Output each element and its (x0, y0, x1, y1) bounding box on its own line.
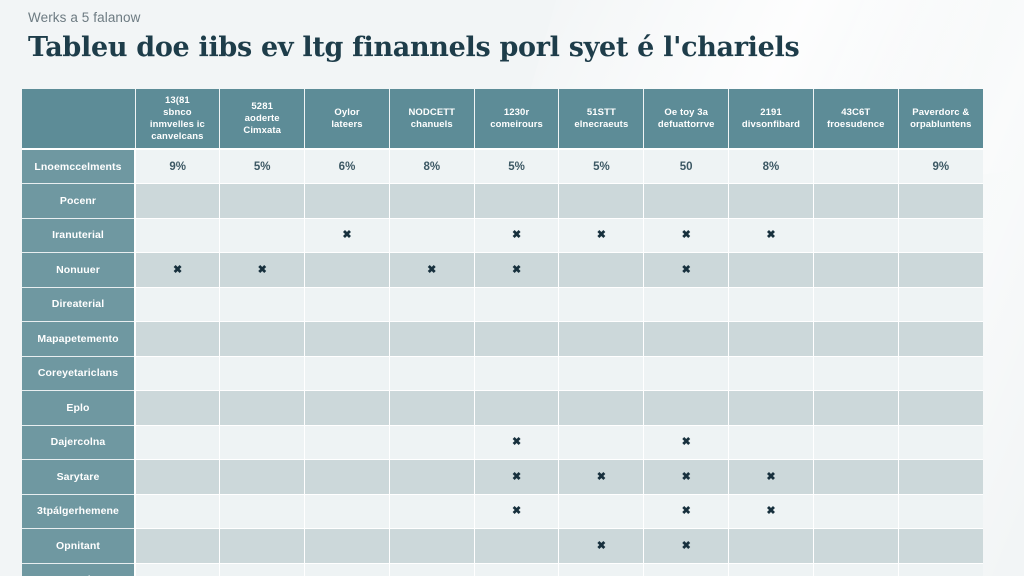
matrix-cell[interactable] (729, 356, 814, 391)
percent-value: 8% (763, 161, 780, 173)
check-mark-icon: ✖ (597, 472, 606, 483)
column-header-line: NODCETT (394, 107, 470, 119)
row-label-9[interactable]: Dajercolna (22, 425, 135, 460)
matrix-cell[interactable]: ✖ (729, 460, 814, 495)
matrix-cell[interactable]: ✖ (729, 494, 814, 529)
matrix-cell[interactable] (898, 184, 983, 219)
percent-value: 8% (423, 161, 440, 173)
matrix-cell[interactable] (898, 529, 983, 564)
matrix-cell[interactable] (305, 287, 390, 322)
matrix-cell[interactable] (729, 287, 814, 322)
matrix-cell[interactable] (389, 460, 474, 495)
matrix-cell[interactable] (813, 322, 898, 357)
matrix-cell[interactable]: 50 (644, 149, 729, 184)
matrix-cell[interactable]: ✖ (135, 253, 220, 288)
table-row: Direaterial (22, 287, 983, 322)
matrix-cell[interactable] (813, 184, 898, 219)
check-mark-icon: ✖ (597, 541, 606, 552)
matrix-cell[interactable] (729, 322, 814, 357)
row-label-11[interactable]: 3tpálgerhemene (22, 494, 135, 529)
matrix-cell[interactable] (898, 460, 983, 495)
matrix-cell[interactable] (644, 563, 729, 576)
matrix-cell[interactable] (220, 494, 305, 529)
matrix-cell[interactable] (474, 391, 559, 426)
percent-value: 9% (933, 161, 950, 173)
page-title: Tableu doe iibs ev ltg finannels porl sy… (28, 28, 988, 68)
matrix-cell[interactable] (474, 322, 559, 357)
check-mark-icon: ✖ (512, 437, 521, 448)
matrix-cell[interactable] (898, 253, 983, 288)
matrix-cell[interactable]: ✖ (389, 253, 474, 288)
check-mark-icon: ✖ (427, 265, 436, 276)
matrix-cell[interactable] (135, 356, 220, 391)
matrix-cell[interactable] (305, 529, 390, 564)
matrix-cell[interactable] (813, 356, 898, 391)
row-label-7[interactable]: Coreyetariclans (22, 356, 135, 391)
matrix-cell[interactable] (389, 287, 474, 322)
column-header-line: Oylor (309, 107, 385, 119)
matrix-cell[interactable]: ✖ (644, 425, 729, 460)
matrix-cell[interactable]: ✖ (559, 218, 644, 253)
matrix-cell[interactable]: ✖ (729, 218, 814, 253)
matrix-cell[interactable] (135, 218, 220, 253)
matrix-cell[interactable] (813, 149, 898, 184)
matrix-cell[interactable] (389, 356, 474, 391)
column-header-4[interactable]: NODCETTchanuels (389, 89, 474, 149)
matrix-cell[interactable]: ✖ (474, 494, 559, 529)
matrix-cell[interactable]: ✖ (644, 494, 729, 529)
table-row: Dajercolna✖✖ (22, 425, 983, 460)
percent-value: 50 (680, 161, 693, 173)
matrix-cell[interactable] (898, 563, 983, 576)
table-row: Iranuterial✖✖✖✖✖ (22, 218, 983, 253)
matrix-cell[interactable] (305, 563, 390, 576)
matrix-cell[interactable] (220, 322, 305, 357)
matrix-cell[interactable]: 9% (135, 149, 220, 184)
column-header-line: elnecraeuts (563, 119, 639, 131)
table-row: Mapapetemento (22, 322, 983, 357)
matrix-cell[interactable] (220, 218, 305, 253)
matrix-cell[interactable] (559, 253, 644, 288)
matrix-cell[interactable] (729, 253, 814, 288)
matrix-cell[interactable] (474, 356, 559, 391)
matrix-cell[interactable] (559, 184, 644, 219)
matrix-cell[interactable] (813, 494, 898, 529)
matrix-cell[interactable] (220, 425, 305, 460)
table-row: 3tpálgerhemene✖✖✖ (22, 494, 983, 529)
table-row: Nonuuer✖✖✖✖✖ (22, 253, 983, 288)
matrix-cell[interactable] (559, 287, 644, 322)
matrix-cell[interactable] (220, 529, 305, 564)
matrix-cell[interactable]: ✖ (559, 460, 644, 495)
matrix-cell[interactable] (220, 356, 305, 391)
column-header-10[interactable]: Paverdorc &orpabluntens (898, 89, 983, 149)
row-label-2[interactable]: Pocenr (22, 184, 135, 219)
check-mark-icon: ✖ (682, 541, 691, 552)
column-header-line: 13(81 (140, 95, 216, 107)
check-mark-icon: ✖ (173, 265, 182, 276)
matrix-cell[interactable]: ✖ (474, 460, 559, 495)
row-label-4[interactable]: Nonuuer (22, 253, 135, 288)
matrix-table-container: 13(81sbncoinmvelles iccanvelcans5281aode… (22, 89, 983, 565)
column-header-line: Paverdorc & (903, 107, 979, 119)
matrix-cell[interactable] (559, 391, 644, 426)
document-page: Werks a 5 falanow Tableu doe iibs ev ltg… (0, 0, 1024, 576)
matrix-cell[interactable] (898, 391, 983, 426)
matrix-cell[interactable] (559, 322, 644, 357)
column-header-line: sbnco (140, 107, 216, 119)
row-label-12[interactable]: Opnitant (22, 529, 135, 564)
matrix-cell[interactable]: ✖ (644, 529, 729, 564)
comparison-matrix-table: 13(81sbncoinmvelles iccanvelcans5281aode… (22, 89, 983, 576)
matrix-cell[interactable] (898, 287, 983, 322)
header-row: 13(81sbncoinmvelles iccanvelcans5281aode… (22, 89, 983, 149)
row-label-3[interactable]: Iranuterial (22, 218, 135, 253)
check-mark-icon: ✖ (258, 265, 267, 276)
table-row: Pocenr (22, 184, 983, 219)
column-header-line: 2191 (733, 107, 809, 119)
matrix-cell[interactable] (729, 563, 814, 576)
column-header-1[interactable]: 13(81sbncoinmvelles iccanvelcans (135, 89, 220, 149)
matrix-cell[interactable] (389, 529, 474, 564)
table-row: Mactoeschunts (22, 563, 983, 576)
table-row: Eplo (22, 391, 983, 426)
matrix-cell[interactable]: 8% (389, 149, 474, 184)
matrix-cell[interactable] (220, 460, 305, 495)
matrix-cell[interactable] (305, 425, 390, 460)
column-header-line: chanuels (394, 119, 470, 131)
matrix-cell[interactable]: ✖ (644, 218, 729, 253)
percent-value: 5% (254, 161, 271, 173)
document-header: Werks a 5 falanow Tableu doe iibs ev ltg… (28, 8, 988, 68)
matrix-cell[interactable] (220, 391, 305, 426)
matrix-cell[interactable] (813, 529, 898, 564)
matrix-cell[interactable]: ✖ (305, 218, 390, 253)
column-header-8[interactable]: 2191divsonfibard (729, 89, 814, 149)
matrix-cell[interactable] (474, 529, 559, 564)
matrix-cell[interactable]: ✖ (474, 425, 559, 460)
matrix-cell[interactable]: ✖ (559, 529, 644, 564)
matrix-cell[interactable] (729, 425, 814, 460)
matrix-cell[interactable] (220, 184, 305, 219)
column-header-line: 51STT (563, 107, 639, 119)
matrix-cell[interactable] (813, 218, 898, 253)
column-header-line: 43C6T (818, 107, 894, 119)
matrix-cell[interactable] (305, 322, 390, 357)
column-header-5[interactable]: 1230rcomeirours (474, 89, 559, 149)
table-corner-cell (22, 89, 135, 149)
matrix-cell[interactable] (559, 425, 644, 460)
column-header-line: divsonfibard (733, 119, 809, 131)
matrix-cell[interactable] (135, 391, 220, 426)
matrix-cell[interactable] (644, 184, 729, 219)
column-header-6[interactable]: 51STTelnecraeuts (559, 89, 644, 149)
matrix-cell[interactable] (305, 356, 390, 391)
matrix-cell[interactable] (135, 563, 220, 576)
matrix-cell[interactable] (389, 391, 474, 426)
matrix-cell[interactable] (389, 563, 474, 576)
matrix-cell[interactable] (135, 184, 220, 219)
row-label-1[interactable]: Lnoemccelments (22, 149, 135, 184)
matrix-cell[interactable] (135, 460, 220, 495)
column-header-line: aoderte (224, 113, 300, 125)
matrix-cell[interactable] (474, 563, 559, 576)
row-label-6[interactable]: Mapapetemento (22, 322, 135, 357)
matrix-cell[interactable] (135, 287, 220, 322)
percent-value: 9% (169, 161, 186, 173)
matrix-cell[interactable] (305, 391, 390, 426)
matrix-cell[interactable] (644, 356, 729, 391)
matrix-cell[interactable]: 8% (729, 149, 814, 184)
matrix-cell[interactable] (729, 529, 814, 564)
matrix-cell[interactable] (305, 253, 390, 288)
matrix-cell[interactable]: 6% (305, 149, 390, 184)
matrix-cell[interactable] (813, 425, 898, 460)
matrix-cell[interactable] (898, 322, 983, 357)
row-label-5[interactable]: Direaterial (22, 287, 135, 322)
matrix-cell[interactable] (898, 425, 983, 460)
matrix-cell[interactable]: ✖ (644, 253, 729, 288)
matrix-cell[interactable]: ✖ (474, 218, 559, 253)
percent-value: 5% (508, 161, 525, 173)
matrix-cell[interactable] (729, 184, 814, 219)
matrix-cell[interactable] (135, 494, 220, 529)
column-header-line: lateers (309, 119, 385, 131)
matrix-cell[interactable]: 5% (474, 149, 559, 184)
matrix-cell[interactable] (389, 218, 474, 253)
check-mark-icon: ✖ (682, 437, 691, 448)
table-row: Coreyetariclans (22, 356, 983, 391)
check-mark-icon: ✖ (766, 230, 775, 241)
matrix-cell[interactable] (813, 391, 898, 426)
matrix-cell[interactable] (220, 563, 305, 576)
matrix-cell[interactable] (135, 529, 220, 564)
column-header-line: defuattorrve (648, 119, 724, 131)
matrix-cell[interactable] (474, 184, 559, 219)
matrix-cell[interactable] (474, 287, 559, 322)
matrix-cell[interactable] (729, 391, 814, 426)
eyebrow-text: Werks a 5 falanow (28, 8, 988, 28)
matrix-cell[interactable] (644, 287, 729, 322)
matrix-cell[interactable] (389, 494, 474, 529)
column-header-7[interactable]: Oe toy 3adefuattorrve (644, 89, 729, 149)
matrix-cell[interactable] (644, 322, 729, 357)
check-mark-icon: ✖ (512, 265, 521, 276)
matrix-cell[interactable] (644, 391, 729, 426)
column-header-line: 5281 (224, 101, 300, 113)
matrix-cell[interactable] (898, 494, 983, 529)
check-mark-icon: ✖ (682, 265, 691, 276)
column-header-line: inmvelles ic (140, 119, 216, 131)
row-label-10[interactable]: Sarytare (22, 460, 135, 495)
table-row: Opnitant✖✖ (22, 529, 983, 564)
column-header-line: Cimxata (224, 125, 300, 137)
column-header-line: canvelcans (140, 131, 216, 143)
matrix-cell[interactable] (813, 563, 898, 576)
table-row: Lnoemccelments9%5%6%8%5%5%508%9% (22, 149, 983, 184)
column-header-3[interactable]: Oylorlateers (305, 89, 390, 149)
matrix-cell[interactable] (220, 287, 305, 322)
matrix-cell[interactable]: ✖ (220, 253, 305, 288)
check-mark-icon: ✖ (512, 230, 521, 241)
matrix-cell[interactable] (135, 322, 220, 357)
check-mark-icon: ✖ (682, 230, 691, 241)
matrix-cell[interactable] (389, 425, 474, 460)
matrix-cell[interactable] (813, 460, 898, 495)
matrix-cell[interactable]: 5% (220, 149, 305, 184)
matrix-cell[interactable] (305, 184, 390, 219)
column-header-line: Oe toy 3a (648, 107, 724, 119)
check-mark-icon: ✖ (342, 230, 351, 241)
matrix-cell[interactable] (389, 184, 474, 219)
matrix-cell[interactable]: ✖ (474, 253, 559, 288)
matrix-cell[interactable]: 5% (559, 149, 644, 184)
check-mark-icon: ✖ (512, 506, 521, 517)
percent-value: 6% (339, 161, 356, 173)
row-label-8[interactable]: Eplo (22, 391, 135, 426)
matrix-cell[interactable] (898, 218, 983, 253)
table-body: Lnoemccelments9%5%6%8%5%5%508%9%PocenrIr… (22, 149, 983, 576)
check-mark-icon: ✖ (682, 472, 691, 483)
matrix-cell[interactable] (898, 356, 983, 391)
percent-value: 5% (593, 161, 610, 173)
check-mark-icon: ✖ (682, 506, 691, 517)
matrix-cell[interactable] (813, 253, 898, 288)
column-header-line: froesudence (818, 119, 894, 131)
row-label-13[interactable]: Mactoeschunts (22, 563, 135, 576)
check-mark-icon: ✖ (766, 506, 775, 517)
table-row: Sarytare✖✖✖✖ (22, 460, 983, 495)
matrix-cell[interactable] (559, 356, 644, 391)
matrix-cell[interactable] (305, 494, 390, 529)
matrix-cell[interactable]: ✖ (644, 460, 729, 495)
matrix-cell[interactable] (559, 494, 644, 529)
check-mark-icon: ✖ (766, 472, 775, 483)
column-header-line: comeirours (479, 119, 555, 131)
matrix-cell[interactable] (389, 322, 474, 357)
check-mark-icon: ✖ (512, 472, 521, 483)
table-header: 13(81sbncoinmvelles iccanvelcans5281aode… (22, 89, 983, 149)
column-header-9[interactable]: 43C6Tfroesudence (813, 89, 898, 149)
check-mark-icon: ✖ (597, 230, 606, 241)
matrix-cell[interactable] (559, 563, 644, 576)
column-header-line: 1230r (479, 107, 555, 119)
column-header-2[interactable]: 5281aoderteCimxata (220, 89, 305, 149)
matrix-cell[interactable] (813, 287, 898, 322)
matrix-cell[interactable]: 9% (898, 149, 983, 184)
matrix-cell[interactable] (305, 460, 390, 495)
column-header-line: orpabluntens (903, 119, 979, 131)
matrix-cell[interactable] (135, 425, 220, 460)
